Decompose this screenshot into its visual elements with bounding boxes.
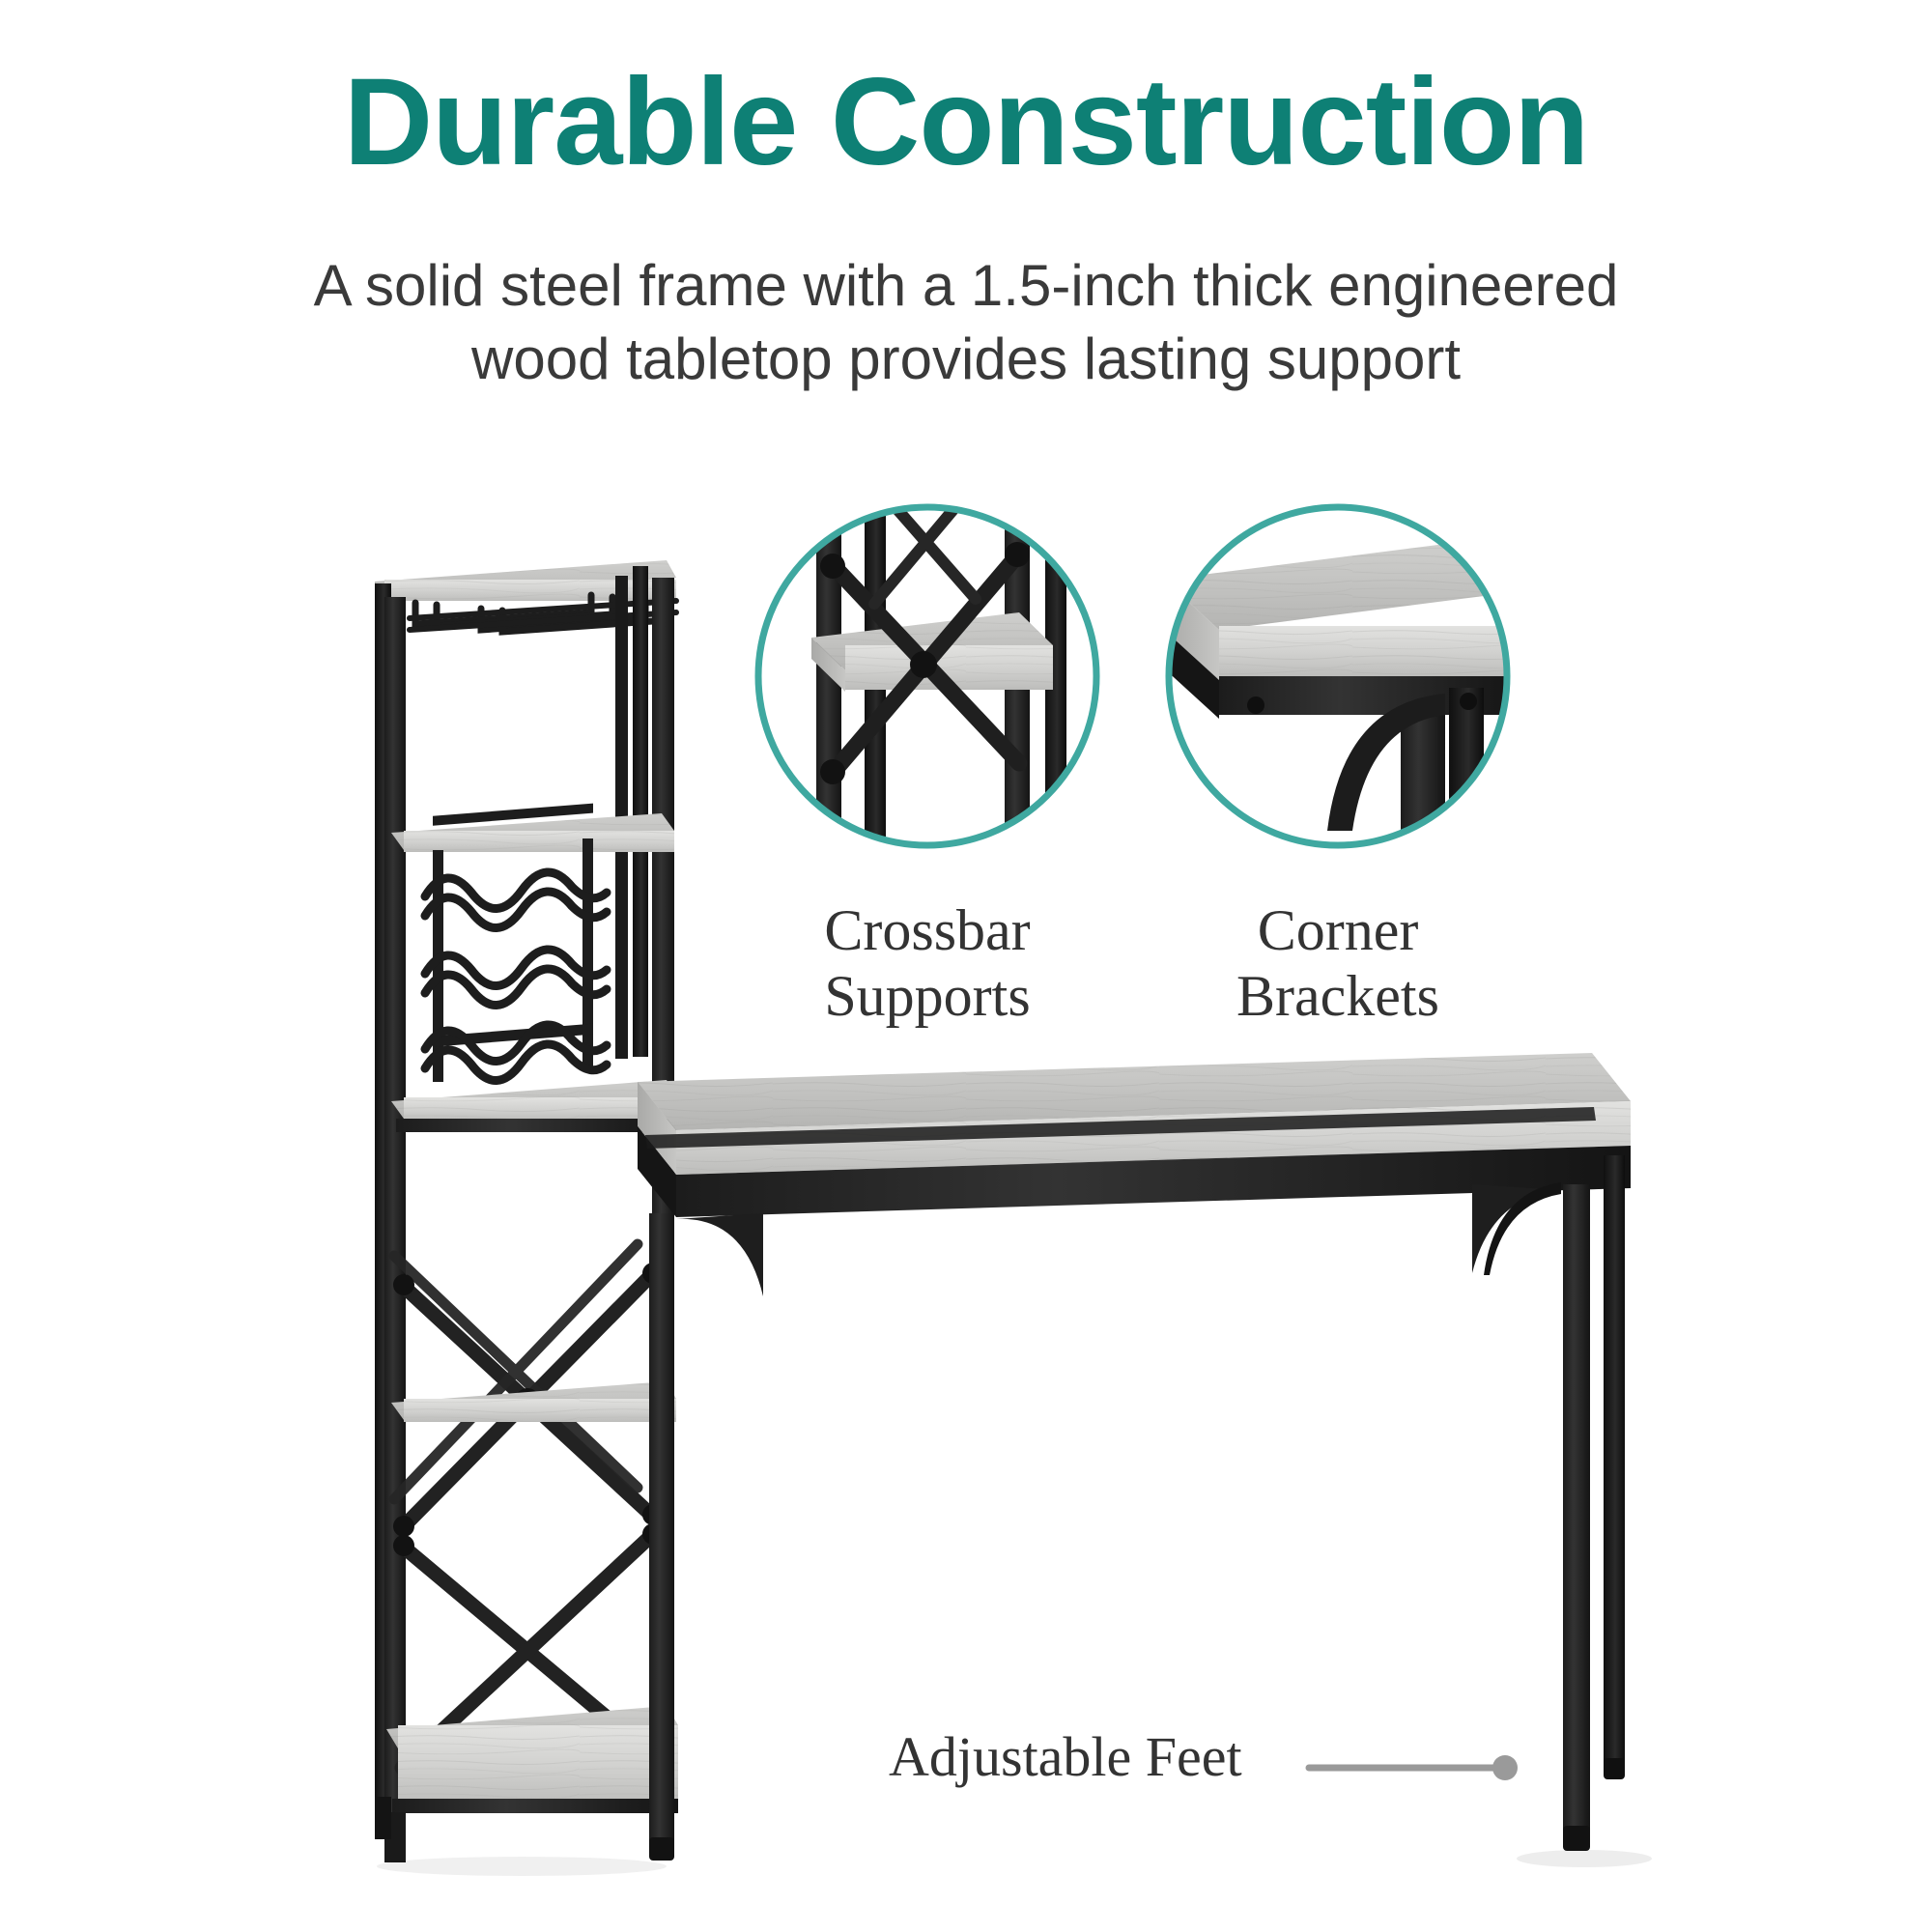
- desk-legs: [649, 1155, 1625, 1843]
- callout-corner-brackets: [1164, 507, 1521, 875]
- wine-rack-row-1: [425, 872, 607, 909]
- wine-rack-row-2: [425, 950, 607, 986]
- crossbar-bolts-lower: [393, 1523, 664, 1556]
- tower-bottom-shelf: [386, 1706, 678, 1813]
- callout-crossbar-supports: [758, 475, 1096, 891]
- tower-top-shelf: [375, 560, 676, 601]
- tower-shelf-3: [391, 1080, 676, 1132]
- desk-adjustable-feet: [649, 1758, 1625, 1861]
- product-illustration: [0, 0, 1932, 1932]
- annotation-leader-adjustable-feet: [1309, 1755, 1518, 1780]
